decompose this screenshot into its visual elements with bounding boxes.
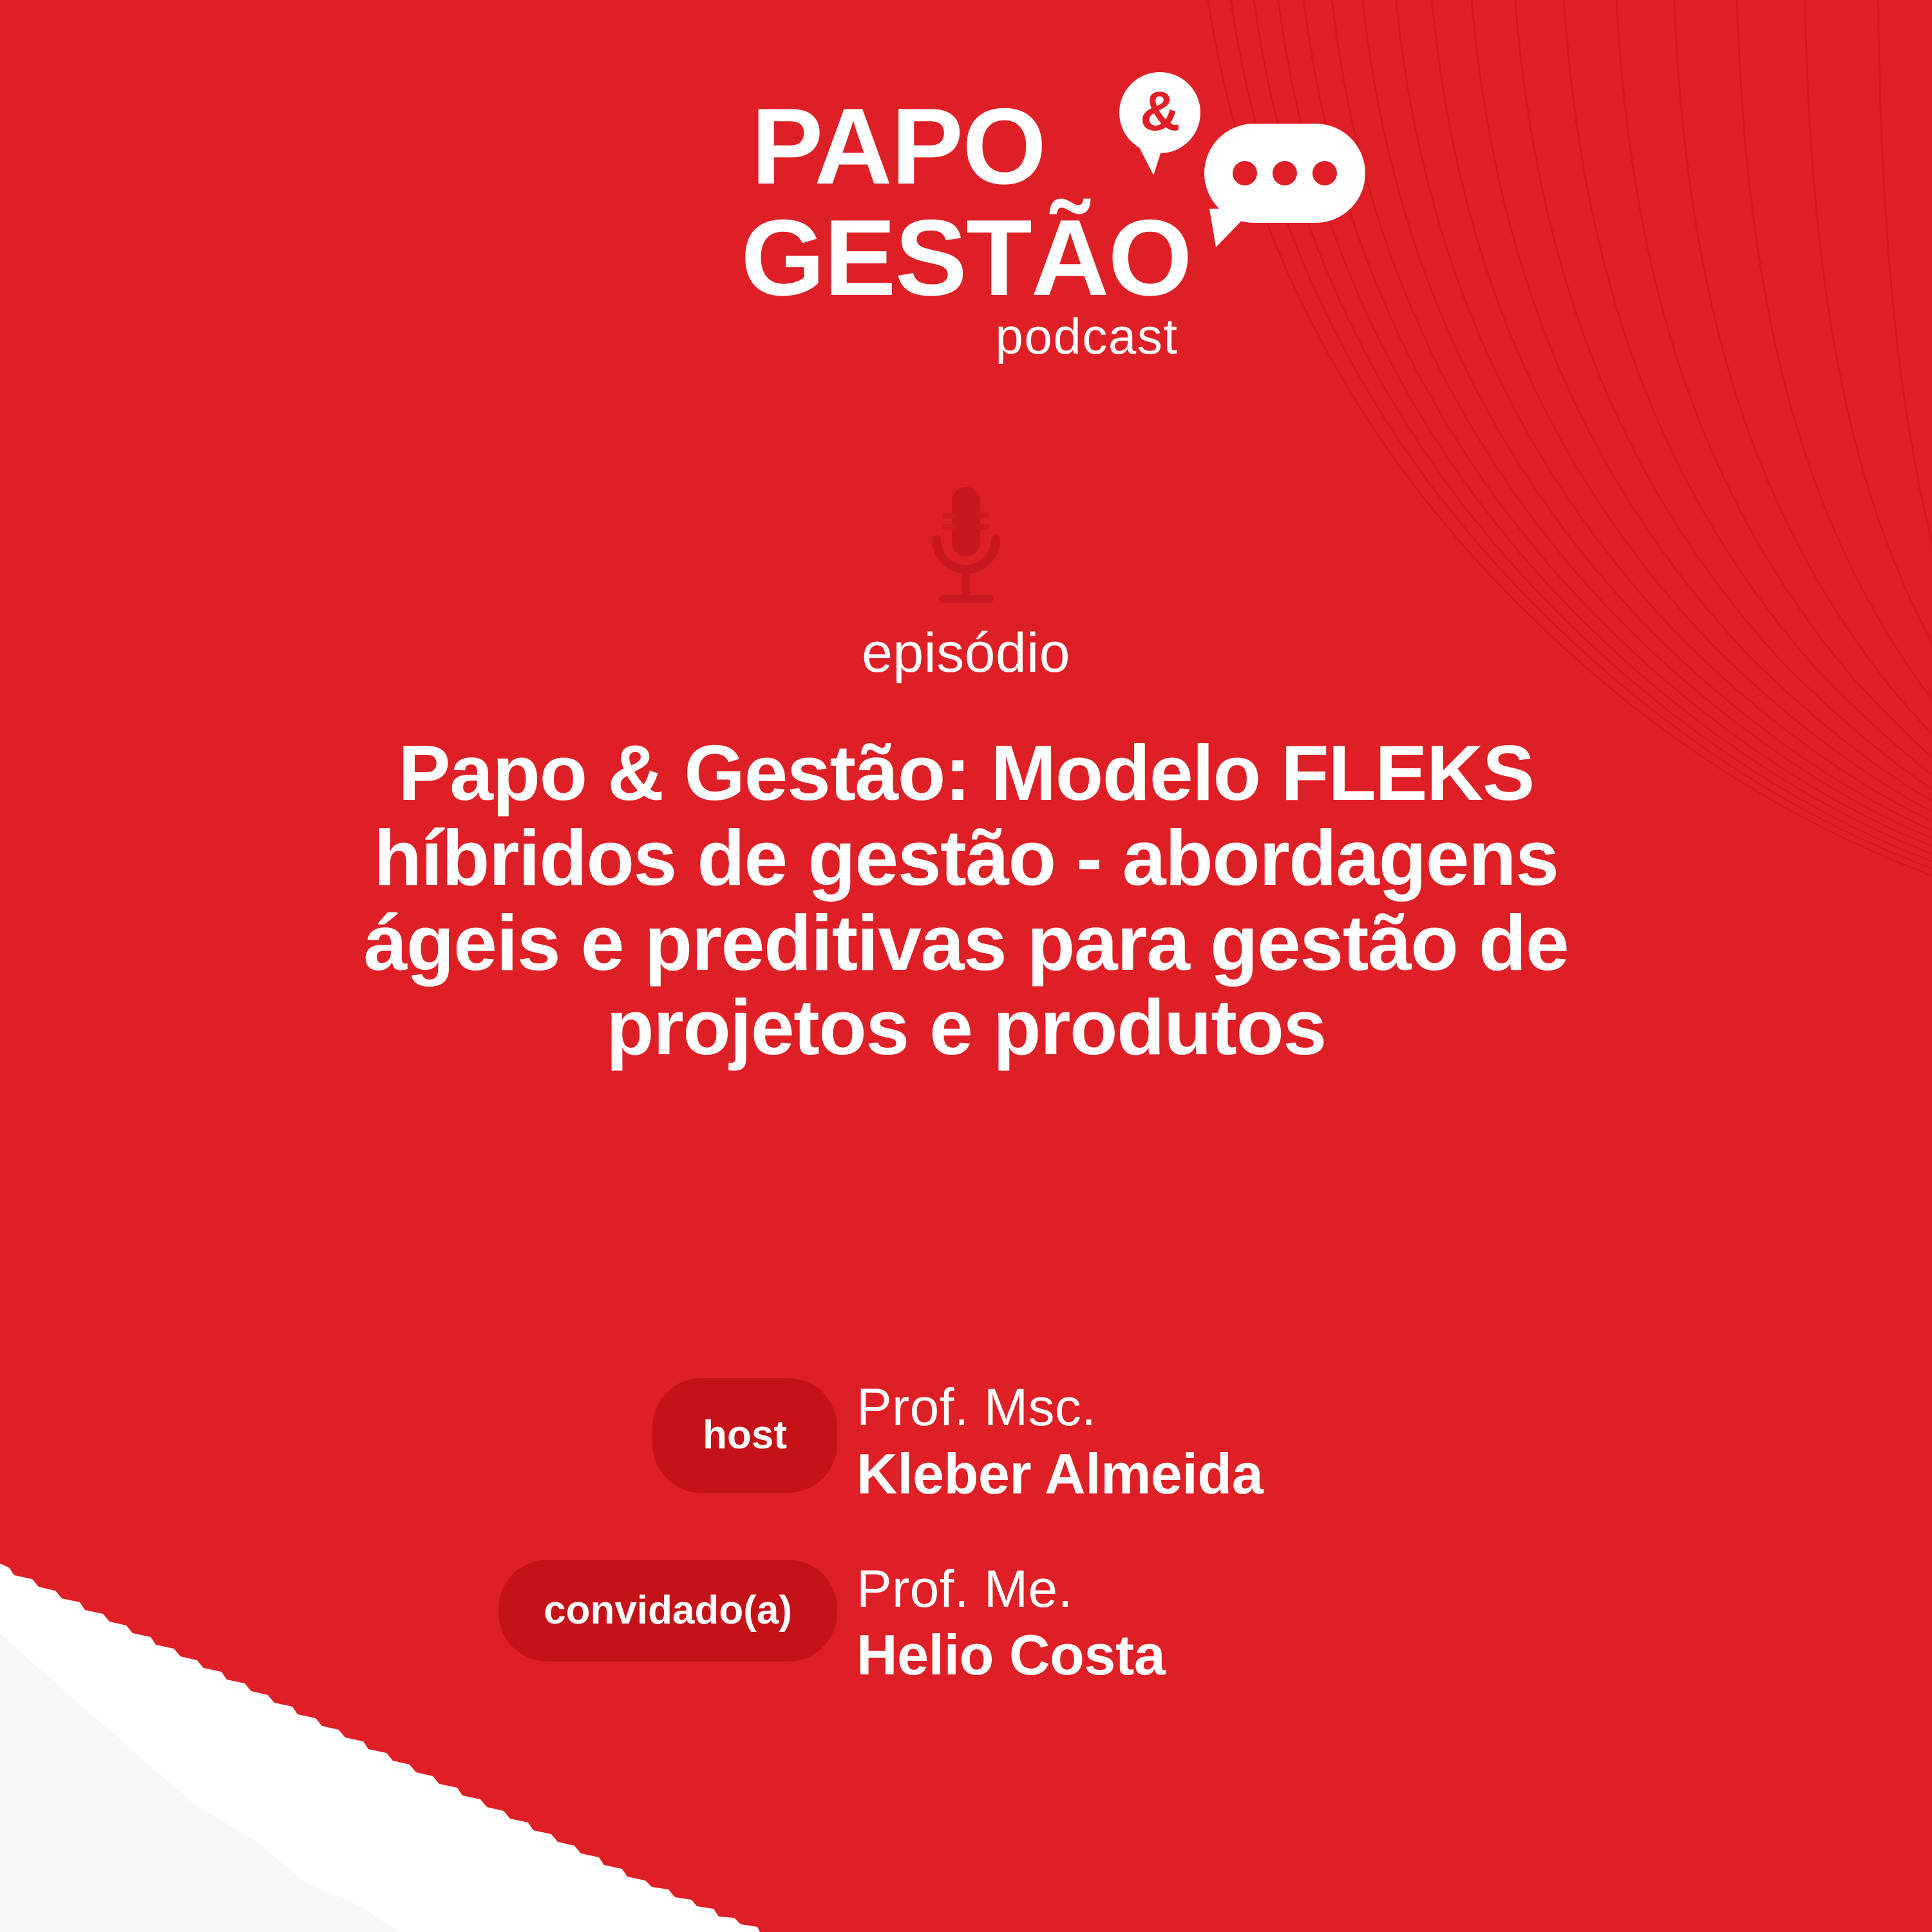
podcast-cover: PAPO & GESTÃO podcast [0, 0, 1932, 1932]
logo-block: PAPO & GESTÃO podcast [0, 97, 1932, 361]
speech-bubble-icon: & [1119, 72, 1200, 153]
ampersand-glyph: & [1140, 84, 1180, 139]
chat-dot-1-icon [1233, 161, 1257, 185]
guest-badge-cell: convidado(a) [0, 1560, 857, 1662]
logo-wordmark: PAPO & GESTÃO podcast [741, 97, 1191, 361]
host-person: Prof. Msc. Kleber Almeida [857, 1378, 1263, 1504]
host-badge: host [652, 1378, 837, 1493]
episode-title-line-1: Papo & Gestão: Modelo FLEKS [97, 731, 1835, 816]
episode-title-line-2: híbridos de gestão - abordagens [97, 816, 1835, 901]
logo-subtitle-podcast: podcast [741, 311, 1191, 361]
microphone-icon-wrapper [0, 484, 1932, 620]
episode-title-line-4: projetos e produtos [97, 985, 1835, 1070]
host-name: Kleber Almeida [857, 1443, 1263, 1504]
episode-title-line-3: ágeis e preditivas para gestão de [97, 901, 1835, 986]
episode-label: episódio [0, 621, 1932, 685]
credits-section: host Prof. Msc. Kleber Almeida convidado… [0, 1378, 1932, 1685]
host-title-prefix: Prof. Msc. [857, 1379, 1263, 1437]
guest-name: Helio Costa [857, 1624, 1165, 1685]
microphone-icon [914, 484, 1018, 620]
episode-title: Papo & Gestão: Modelo FLEKS híbridos de … [97, 731, 1835, 1070]
speech-bubble-tail-icon [1139, 144, 1168, 177]
chat-dots-bubble-icon [1204, 124, 1365, 223]
chat-dot-3-icon [1312, 161, 1337, 185]
guest-badge: convidado(a) [498, 1560, 837, 1662]
credit-row-guest: convidado(a) Prof. Me. Helio Costa [0, 1560, 1932, 1686]
host-badge-cell: host [0, 1378, 857, 1493]
chat-dot-2-icon [1273, 161, 1297, 185]
credit-row-host: host Prof. Msc. Kleber Almeida [0, 1378, 1932, 1504]
chat-bubble-tail-icon [1209, 209, 1253, 247]
guest-person: Prof. Me. Helio Costa [857, 1560, 1165, 1686]
guest-title-prefix: Prof. Me. [857, 1561, 1165, 1618]
logo-line-gestao: GESTÃO [741, 208, 1191, 308]
